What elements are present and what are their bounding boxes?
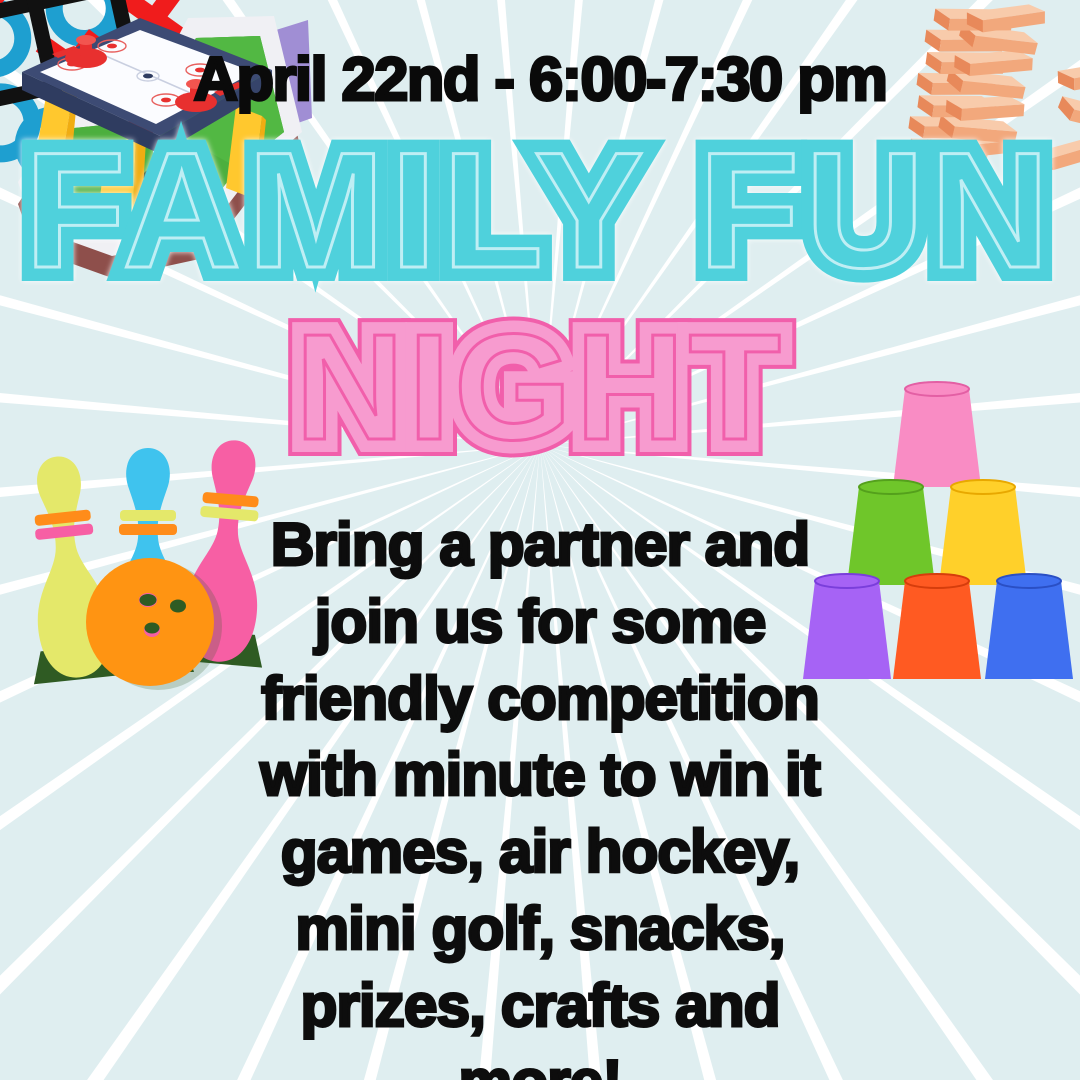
air-hockey-table-illustration <box>0 0 290 260</box>
event-description: Bring a partner and join us for some fri… <box>255 506 825 1080</box>
description-line: with minute to win it <box>255 736 825 813</box>
description-line: mini golf, snacks, <box>255 890 825 967</box>
description-line: join us for some <box>255 583 825 660</box>
stacking-cups-illustration <box>795 375 1080 685</box>
description-line: games, air hockey, <box>255 813 825 890</box>
description-line: more! <box>255 1043 825 1080</box>
description-line: prizes, crafts and <box>255 967 825 1044</box>
description-line: friendly competition <box>255 660 825 737</box>
poster-canvas: April 22nd - 6:00-7:30 pm FAMILY FUN FAM… <box>0 0 1080 1080</box>
description-line: Bring a partner and <box>255 506 825 583</box>
event-date-time: April 22nd - 6:00-7:30 pm <box>0 44 1080 115</box>
